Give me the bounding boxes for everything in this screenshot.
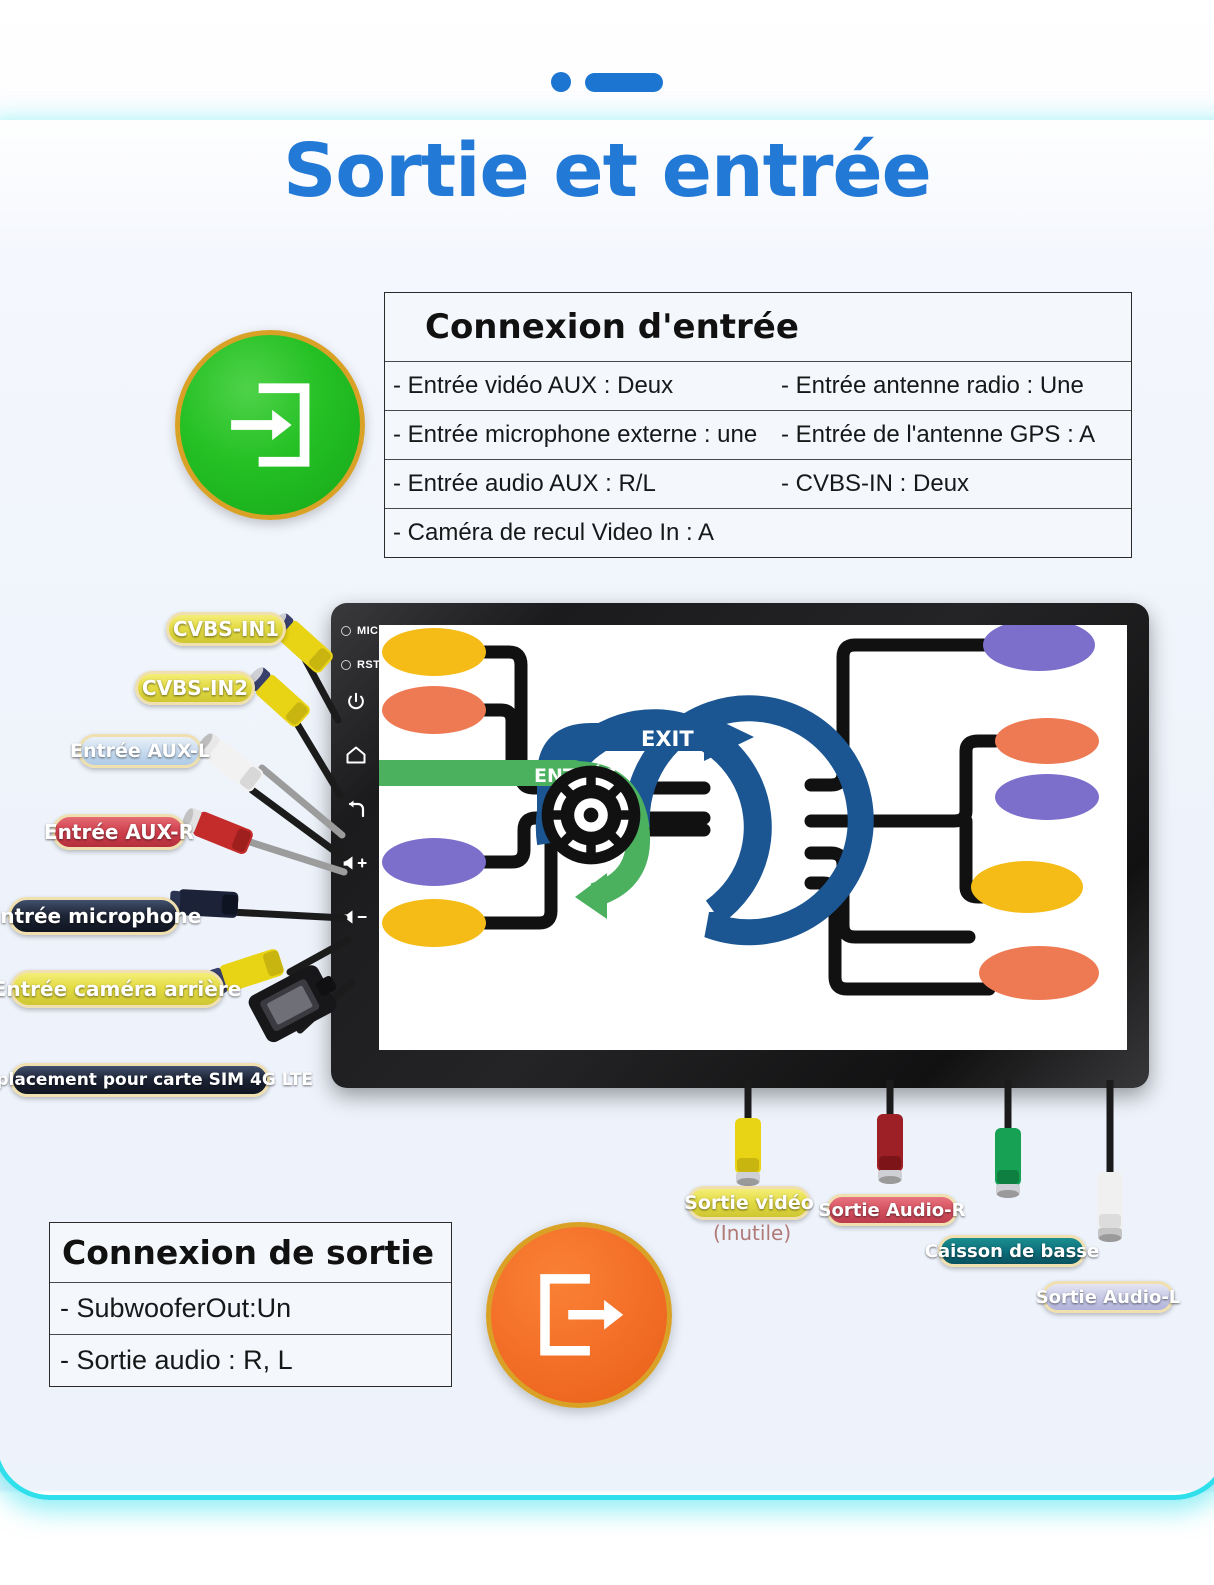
rca-connector-video-out: [735, 1118, 761, 1186]
output-table-heading: Connexion de sortie: [50, 1223, 451, 1283]
table-cell: - SubwooferOut:Un: [50, 1283, 451, 1334]
label-caisson-de-basse: Caisson de basse: [938, 1235, 1086, 1267]
label-entree-microphone: Entrée microphone: [8, 897, 180, 935]
page-title: Sortie et entrée: [0, 128, 1214, 214]
input-cable-harness: [0, 590, 400, 1110]
table-row: - Caméra de recul Video In : A: [385, 509, 1131, 557]
table-row: - SubwooferOut:Un: [50, 1283, 451, 1335]
table-cell: - CVBS-IN : Deux: [773, 460, 1129, 508]
decoration-dash-icon: [585, 73, 663, 92]
gear-icon: [542, 766, 641, 865]
head-unit-screen: ENTRÉE EXIT: [379, 625, 1127, 1050]
label-entree-camera-arriere: Entrée caméra arrière: [10, 970, 224, 1008]
table-cell: - Entrée audio AUX : R/L: [385, 460, 773, 508]
label-sim-slot: Emplacement pour carte SIM 4G LTE: [10, 1063, 270, 1097]
label-cvbs-in2: CVBS-IN2: [135, 671, 255, 705]
label-cvbs-in1: CVBS-IN1: [166, 612, 286, 646]
table-row: - Entrée vidéo AUX : Deux - Entrée anten…: [385, 362, 1131, 411]
diagram-node-right-2: [995, 718, 1099, 764]
table-cell: - Entrée microphone externe : une: [385, 411, 773, 459]
table-row: - Sortie audio : R, L: [50, 1335, 451, 1386]
input-connection-table: Connexion d'entrée - Entrée vidéo AUX : …: [384, 292, 1132, 558]
input-badge: [175, 330, 365, 520]
rca-connector-audio-l-out: [1097, 1172, 1123, 1242]
table-cell: - Sortie audio : R, L: [50, 1335, 451, 1386]
table-cell: - Entrée antenne radio : Une: [773, 362, 1129, 410]
label-entree-aux-r: Entrée AUX-R: [52, 814, 186, 850]
table-cell: [773, 509, 1129, 557]
flow-diagram: ENTRÉE EXIT: [379, 625, 1127, 1050]
rca-connector-cvbs-in2: [244, 664, 313, 729]
table-cell: - Caméra de recul Video In : A: [385, 509, 773, 557]
label-sortie-audio-l: Sortie Audio-L: [1042, 1281, 1174, 1313]
login-arrow-icon: [216, 371, 324, 479]
output-badge: [486, 1222, 672, 1408]
diagram-node-right-3: [995, 774, 1099, 820]
output-connection-table: Connexion de sortie - SubwooferOut:Un - …: [49, 1222, 452, 1387]
label-sortie-audio-r: Sortie Audio-R: [826, 1194, 958, 1226]
title-decoration: [0, 72, 1214, 92]
input-table-heading: Connexion d'entrée: [385, 293, 1131, 362]
label-sortie-video-note: (Inutile): [713, 1221, 791, 1245]
diagram-node-right-1: [983, 625, 1095, 671]
rca-connector-audio-r-out: [877, 1114, 903, 1184]
label-entree-aux-l: Entrée AUX-L: [78, 734, 202, 768]
table-cell: - Entrée de l'antenne GPS : A: [773, 411, 1129, 459]
decoration-dot-icon: [551, 72, 571, 92]
car-head-unit: MIC RST: [331, 603, 1149, 1088]
table-row: - Entrée microphone externe : une - Entr…: [385, 411, 1131, 460]
table-row: - Entrée audio AUX : R/L - CVBS-IN : Deu…: [385, 460, 1131, 509]
entree-arrow-head: [575, 873, 607, 919]
table-cell: - Entrée vidéo AUX : Deux: [385, 362, 773, 410]
logout-arrow-icon: [526, 1262, 632, 1368]
diagram-node-right-4: [971, 861, 1083, 913]
exit-label: EXIT: [641, 727, 694, 751]
diagram-node-right-5: [979, 946, 1099, 1000]
label-sortie-video: Sortie vidéo: [687, 1186, 811, 1220]
rca-connector-subwoofer-out: [995, 1128, 1021, 1198]
